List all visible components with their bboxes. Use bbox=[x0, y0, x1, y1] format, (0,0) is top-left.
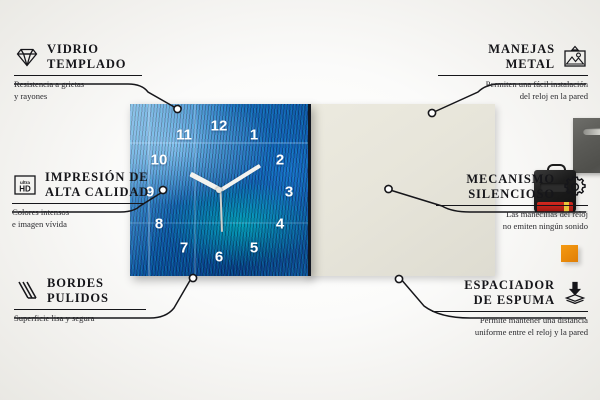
callout-header: BORDES PULIDOS bbox=[14, 276, 146, 306]
callout-title-line2: DE ESPUMA bbox=[464, 293, 555, 308]
callout-rule bbox=[14, 309, 146, 311]
callout-title-line2: SILENCIOSO bbox=[466, 187, 555, 202]
callout-rule bbox=[12, 203, 144, 205]
callout-rule bbox=[436, 205, 588, 207]
callout-title-line1: BORDES bbox=[47, 276, 109, 291]
callout-header: ultra HD IMPRESIÓN DE ALTA CALIDAD bbox=[12, 170, 144, 200]
callout-header: VIDRIO TEMPLADO bbox=[14, 42, 142, 72]
clock-numeral-5: 5 bbox=[250, 241, 258, 256]
callout-impresion-alta-calidad: ultra HD IMPRESIÓN DE ALTA CALIDAD Color… bbox=[12, 170, 144, 230]
callout-title-line2: METAL bbox=[488, 57, 555, 72]
callout-description: Colores intensos e imagen vívida bbox=[12, 207, 144, 230]
clock-numeral-4: 4 bbox=[276, 217, 284, 232]
callout-bordes-pulidos: BORDES PULIDOS Superficie lisa y segura bbox=[14, 276, 146, 325]
clock-numeral-7: 7 bbox=[180, 241, 188, 256]
callout-title-line1: ESPACIADOR bbox=[464, 278, 555, 293]
arrow-onto-layers-icon bbox=[562, 280, 588, 306]
clock-numeral-8: 8 bbox=[155, 217, 163, 232]
diamond-icon bbox=[14, 44, 40, 70]
connector-dot-espaciador bbox=[395, 275, 402, 282]
callout-title-line1: VIDRIO bbox=[47, 42, 126, 57]
callout-mecanismo-silencioso: MECANISMO SILENCIOSO Las manecillas del … bbox=[436, 172, 588, 232]
callout-espaciador-espuma: ESPACIADOR DE ESPUMA Permite mantener un… bbox=[432, 278, 588, 338]
picture-frame-hanging-icon bbox=[562, 44, 588, 70]
clock-numeral-12: 12 bbox=[211, 119, 228, 134]
callout-title-line1: MECANISMO bbox=[466, 172, 555, 187]
clock-numeral-1: 1 bbox=[250, 128, 258, 143]
metal-hanger-plate bbox=[573, 118, 600, 173]
clock-numeral-3: 3 bbox=[285, 185, 293, 200]
callout-description: Permiten una fácil instalación del reloj… bbox=[438, 79, 588, 102]
callout-rule bbox=[432, 311, 588, 313]
callout-vidrio-templado: VIDRIO TEMPLADO Resistencia a grietas y … bbox=[14, 42, 142, 102]
callout-header: MANEJAS METAL bbox=[438, 42, 588, 72]
callout-title-line2: ALTA CALIDAD bbox=[45, 185, 149, 200]
callout-description: Superficie lisa y segura bbox=[14, 313, 146, 325]
clock-numeral-11: 11 bbox=[176, 128, 192, 143]
callout-description: Las manecillas del reloj no emiten ningú… bbox=[436, 209, 588, 232]
callout-title-line2: PULIDOS bbox=[47, 291, 109, 306]
callout-header: ESPACIADOR DE ESPUMA bbox=[432, 278, 588, 308]
callout-description: Permite mantener una distancia uniforme … bbox=[432, 315, 588, 338]
hanger-keyhole-slot bbox=[583, 128, 600, 135]
callout-manejas-metal: MANEJAS METAL Permiten una fácil instala… bbox=[438, 42, 588, 102]
clock-numeral-6: 6 bbox=[215, 250, 223, 265]
clock-front: 12 1 2 3 4 5 6 7 8 9 10 11 bbox=[130, 104, 311, 276]
clock-numeral-10: 10 bbox=[151, 153, 168, 168]
foam-spacer bbox=[561, 245, 578, 262]
ultra-hd-badge-icon: ultra HD bbox=[12, 172, 38, 198]
callout-title-line1: MANEJAS bbox=[488, 42, 555, 57]
clock-numeral-2: 2 bbox=[276, 153, 284, 168]
callout-title-line2: TEMPLADO bbox=[47, 57, 126, 72]
gear-icon bbox=[562, 174, 588, 200]
callout-rule bbox=[438, 75, 588, 77]
clock-center-pivot bbox=[216, 187, 222, 193]
polished-edges-icon bbox=[14, 278, 40, 304]
callout-rule bbox=[14, 75, 142, 77]
callout-title-line1: IMPRESIÓN DE bbox=[45, 170, 149, 185]
callout-description: Resistencia a grietas y rayones bbox=[14, 79, 142, 102]
infographic-canvas: 12 1 2 3 4 5 6 7 8 9 10 11 bbox=[0, 0, 600, 400]
svg-text:HD: HD bbox=[19, 184, 31, 193]
callout-header: MECANISMO SILENCIOSO bbox=[436, 172, 588, 202]
